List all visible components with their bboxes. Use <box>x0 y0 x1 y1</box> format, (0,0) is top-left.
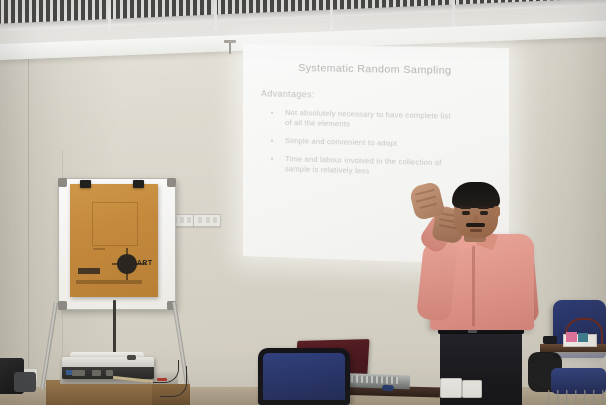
bullet-dot-icon <box>271 111 273 113</box>
flipchart-brand-mark <box>78 268 100 274</box>
presenter-eyebrow-right <box>478 206 489 209</box>
switch-toggle[interactable] <box>213 217 217 223</box>
finger-line <box>416 196 437 203</box>
board-corner <box>167 178 176 187</box>
slide-bullet: Time and labour involved in the collecti… <box>269 154 501 180</box>
switch-toggle[interactable] <box>180 217 184 223</box>
flipchart-pad: CHART <box>70 184 158 297</box>
chair-center-backrest[interactable] <box>258 348 350 405</box>
lecture-room-photo: Systematic Random Sampling Advantages: N… <box>0 0 606 405</box>
flipchart-tick-mark <box>93 248 105 250</box>
presenter-mouth <box>470 229 482 232</box>
presenter-eye-right <box>480 211 488 215</box>
presenter-ear <box>493 206 500 217</box>
floor-equipment-secondary <box>14 372 36 392</box>
flipchart-clip-right[interactable] <box>133 180 144 188</box>
presenter-eyebrow-left <box>460 206 471 209</box>
desk-item-teal-object <box>578 333 588 342</box>
projector-port <box>72 370 85 376</box>
flipchart-brand-text: CHART <box>126 260 153 267</box>
switch-toggle[interactable] <box>198 217 202 223</box>
flipchart-footer-bar <box>76 280 142 284</box>
board-corner <box>58 301 67 310</box>
desk-item-pink-folder <box>566 332 577 342</box>
projector-port <box>106 370 113 376</box>
presenter-moustache <box>466 223 485 227</box>
finger-line <box>419 203 437 209</box>
bullet-line-1: Simple and convenient to adopt <box>285 136 397 148</box>
presenter-shirt-placket <box>472 238 475 326</box>
flipchart-clip-left[interactable] <box>80 180 91 188</box>
light-switch-plate[interactable] <box>193 214 221 227</box>
slide-bullet: Not absolutely necessary to have complet… <box>269 108 501 133</box>
switch-toggle[interactable] <box>206 217 210 223</box>
projector-cable <box>160 366 187 397</box>
bullet-line-2: sample is relatively less <box>285 164 501 180</box>
wall-socket[interactable] <box>462 380 482 398</box>
presenter-nose <box>473 216 479 223</box>
slide-title: Systematic Random Sampling <box>243 61 509 78</box>
grille-divider <box>214 0 217 30</box>
bullet-line-2: of all the elements <box>285 118 501 133</box>
switch-toggle[interactable] <box>187 217 191 223</box>
grille-divider <box>108 0 111 30</box>
slide-subtitle: Advantages: <box>261 88 315 99</box>
finger-line <box>415 189 435 195</box>
desk-mobile-phone <box>543 336 557 344</box>
projector-focus-knob[interactable] <box>127 355 136 360</box>
ceiling-hook-stem <box>229 43 231 54</box>
flipchart-printed-rectangle <box>92 202 138 246</box>
board-corner <box>58 178 67 187</box>
bullet-dot-icon <box>271 157 273 159</box>
projector-port <box>92 370 101 376</box>
presenter-eye-left <box>462 211 470 215</box>
laptop-mouse[interactable] <box>382 385 394 392</box>
presenter-hair <box>452 182 500 208</box>
wall-socket[interactable] <box>440 378 462 398</box>
bullet-dot-icon <box>271 139 273 141</box>
chair-right-legs <box>548 390 606 405</box>
slide-bullet: Simple and convenient to adopt <box>269 136 501 152</box>
wall-seam <box>28 44 29 374</box>
slide-bullet-list: Not absolutely necessary to have complet… <box>269 108 501 189</box>
grille-divider <box>330 0 333 30</box>
